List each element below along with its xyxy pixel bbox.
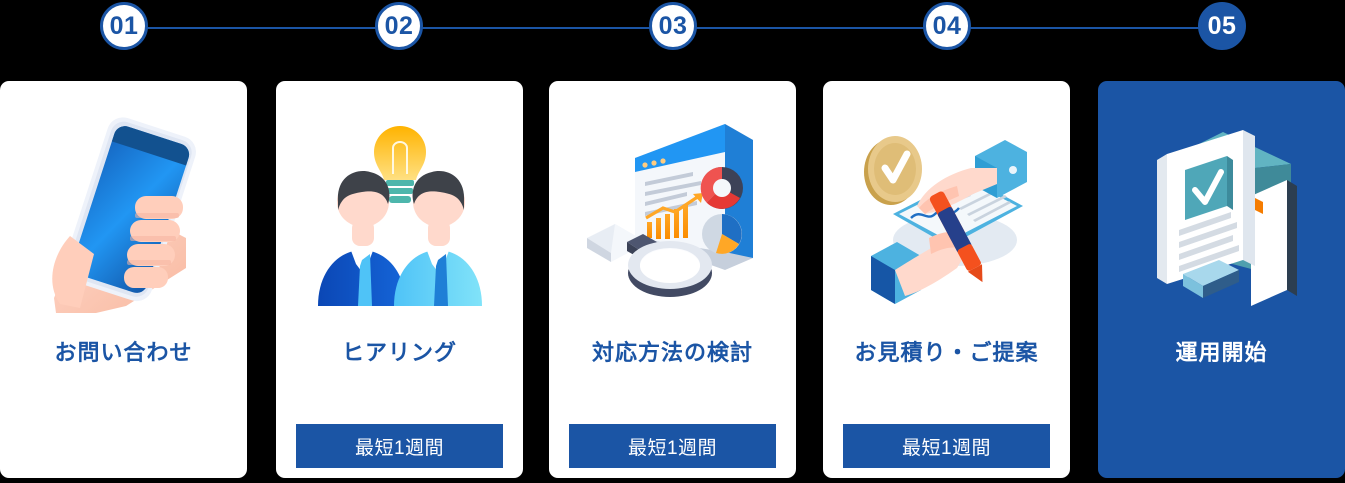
step-duration-badge: 最短1週間 [569, 424, 776, 468]
contract-signing-icon [823, 99, 1070, 321]
step-progress-bar: 01 02 03 04 05 [0, 0, 1345, 56]
step-card-4[interactable]: お見積り・ご提案 最短1週間 [823, 81, 1070, 478]
step-card-5[interactable]: 運用開始 [1098, 81, 1345, 478]
step-number-05[interactable]: 05 [1198, 2, 1246, 50]
step-number-label: 02 [385, 14, 414, 39]
step-number-label: 01 [110, 14, 139, 39]
step-number-label: 05 [1208, 14, 1237, 39]
step-number-label: 03 [659, 14, 688, 39]
step-label: 対応方法の検討 [592, 335, 753, 367]
process-steps-diagram: 01 02 03 04 05 [0, 0, 1345, 483]
step-label: ヒアリング [342, 335, 457, 367]
two-businessmen-lightbulb-icon [276, 99, 523, 321]
hand-holding-smartphone-icon [0, 99, 247, 321]
step-card-2[interactable]: ヒアリング 最短1週間 [276, 81, 523, 478]
step-duration-badge: 最短1週間 [296, 424, 503, 468]
step-label: 運用開始 [1175, 335, 1267, 367]
step-number-04[interactable]: 04 [923, 2, 971, 50]
step-number-label: 04 [933, 14, 962, 39]
step-label: お見積り・ご提案 [854, 335, 1038, 367]
dashboard-magnifier-icon [549, 99, 796, 321]
step-card-3[interactable]: 対応方法の検討 最短1週間 [549, 81, 796, 478]
step-number-01[interactable]: 01 [100, 2, 148, 50]
step-label: お問い合わせ [54, 335, 192, 367]
step-card-1[interactable]: お問い合わせ [0, 81, 247, 478]
step-number-03[interactable]: 03 [649, 2, 697, 50]
step-number-02[interactable]: 02 [375, 2, 423, 50]
step-duration-badge: 最短1週間 [843, 424, 1050, 468]
monitor-document-check-icon [1098, 99, 1345, 321]
